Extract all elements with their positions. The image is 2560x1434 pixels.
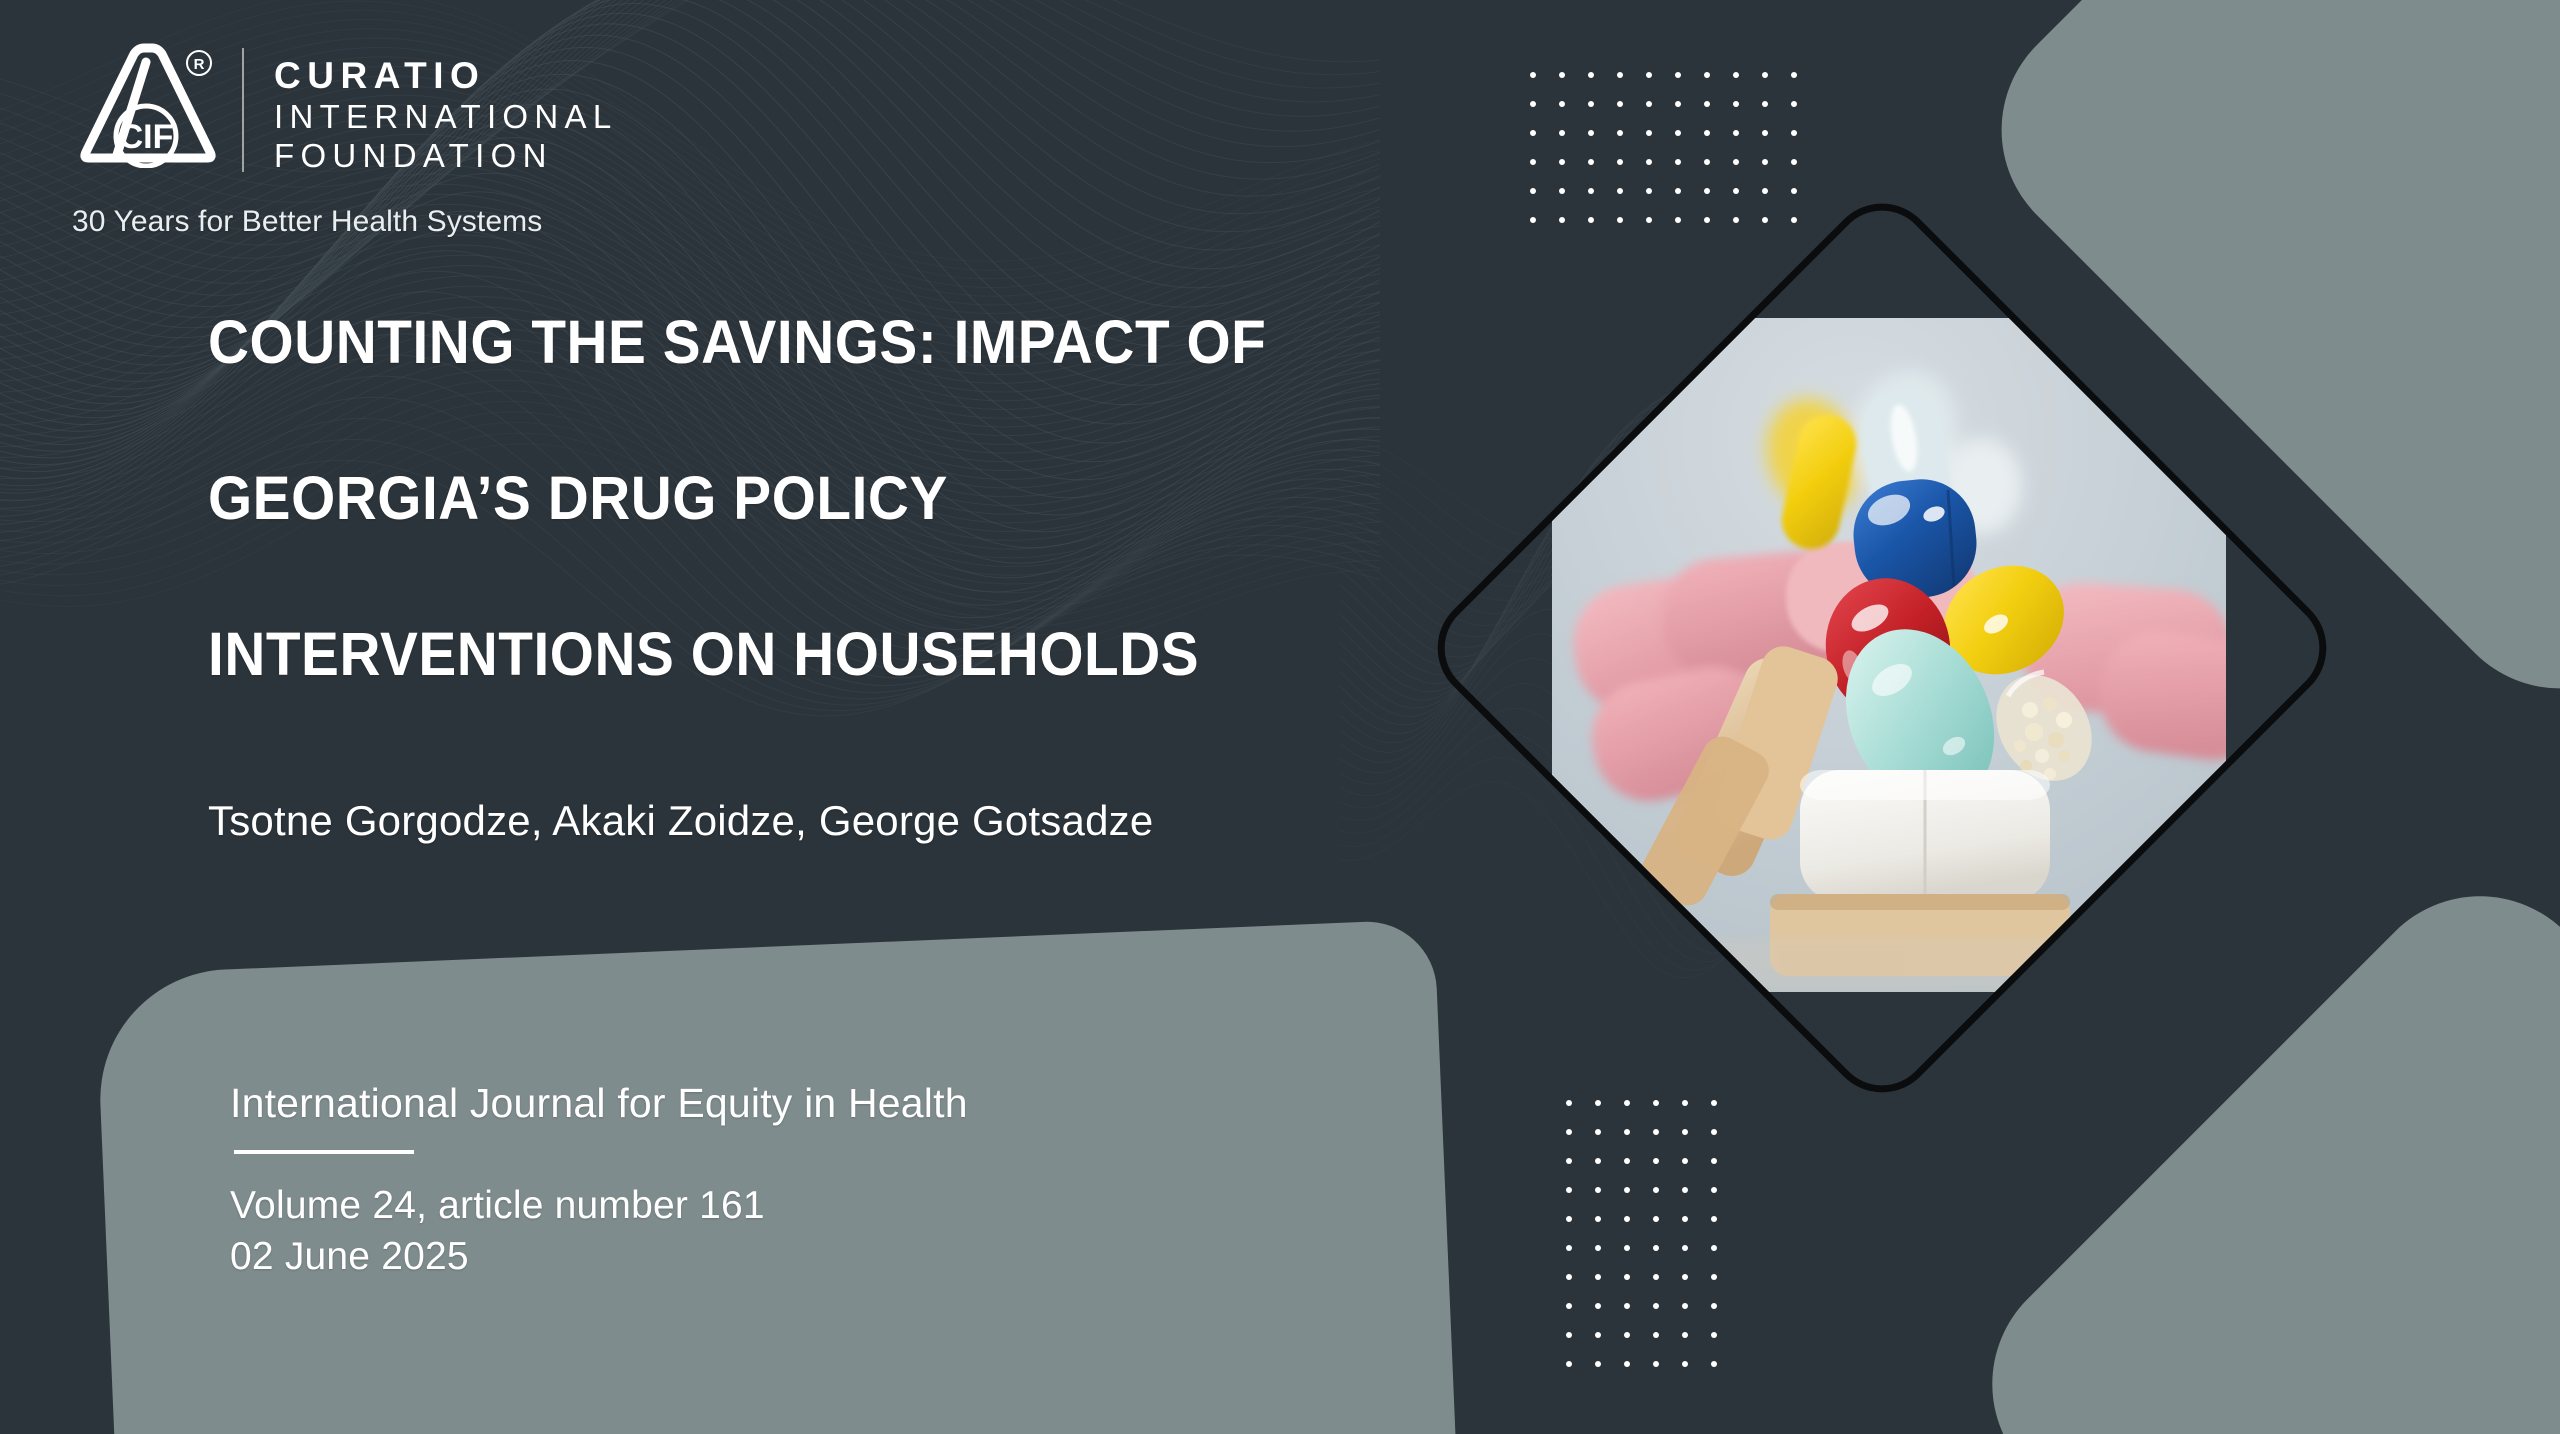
grid-dot bbox=[1762, 217, 1768, 223]
grid-dot bbox=[1682, 1303, 1688, 1309]
grid-dot bbox=[1704, 217, 1710, 223]
grid-dot bbox=[1653, 1332, 1659, 1338]
grid-dot bbox=[1704, 130, 1710, 136]
grid-dot bbox=[1624, 1332, 1630, 1338]
grid-dot bbox=[1675, 159, 1681, 165]
registered-trademark-icon: R bbox=[182, 46, 216, 80]
grid-dot bbox=[1559, 72, 1565, 78]
grid-dot bbox=[1646, 101, 1652, 107]
grid-dot bbox=[1646, 159, 1652, 165]
logo-line-curatio: CURATIO bbox=[274, 54, 617, 98]
grid-dot bbox=[1559, 188, 1565, 194]
grid-dot bbox=[1559, 130, 1565, 136]
grid-dot bbox=[1595, 1303, 1601, 1309]
grid-dot bbox=[1624, 1158, 1630, 1164]
journal-info-text: International Journal for Equity in Heal… bbox=[230, 1080, 1330, 1283]
grid-dot bbox=[1624, 1361, 1630, 1367]
grid-dot bbox=[1566, 1216, 1572, 1222]
grid-dot bbox=[1530, 217, 1536, 223]
grid-dot bbox=[1682, 1245, 1688, 1251]
grid-dot bbox=[1682, 1187, 1688, 1193]
grid-dot bbox=[1682, 1129, 1688, 1135]
grid-dot bbox=[1595, 1332, 1601, 1338]
grid-dot bbox=[1646, 217, 1652, 223]
grid-dot bbox=[1711, 1274, 1717, 1280]
grid-dot bbox=[1566, 1332, 1572, 1338]
grid-dot bbox=[1530, 101, 1536, 107]
grid-dot bbox=[1588, 130, 1594, 136]
grid-dot bbox=[1559, 159, 1565, 165]
grid-dot bbox=[1617, 101, 1623, 107]
svg-text:CIF: CIF bbox=[119, 118, 174, 156]
grid-dot bbox=[1711, 1361, 1717, 1367]
grid-dot bbox=[1682, 1100, 1688, 1106]
grid-dot bbox=[1711, 1129, 1717, 1135]
grid-dot bbox=[1791, 130, 1797, 136]
title-line-1: COUNTING THE SAVINGS: IMPACT OF bbox=[208, 312, 1445, 373]
grid-dot bbox=[1653, 1361, 1659, 1367]
grid-dot bbox=[1682, 1361, 1688, 1367]
grid-dot bbox=[1733, 188, 1739, 194]
grid-dot bbox=[1675, 101, 1681, 107]
grid-dot bbox=[1566, 1361, 1572, 1367]
grid-dot bbox=[1733, 159, 1739, 165]
grid-dot bbox=[1733, 72, 1739, 78]
grid-dot bbox=[1791, 101, 1797, 107]
grid-dot bbox=[1653, 1216, 1659, 1222]
grid-dot bbox=[1624, 1100, 1630, 1106]
grid-dot bbox=[1595, 1100, 1601, 1106]
grid-dot bbox=[1791, 217, 1797, 223]
grid-dot bbox=[1711, 1245, 1717, 1251]
grid-dot bbox=[1733, 217, 1739, 223]
grid-dot bbox=[1595, 1158, 1601, 1164]
grid-dot bbox=[1762, 72, 1768, 78]
grid-dot bbox=[1624, 1245, 1630, 1251]
grid-dot bbox=[1566, 1303, 1572, 1309]
journal-date: 02 June 2025 bbox=[230, 1231, 1330, 1282]
grid-dot bbox=[1653, 1100, 1659, 1106]
grid-dot bbox=[1675, 130, 1681, 136]
grid-dot bbox=[1566, 1100, 1572, 1106]
grid-dot bbox=[1588, 101, 1594, 107]
presentation-slide: CIF R CURATIO INTERNATIONAL FOUNDATION 3… bbox=[0, 0, 2560, 1434]
grid-dot bbox=[1791, 159, 1797, 165]
grid-dot bbox=[1682, 1274, 1688, 1280]
grid-dot bbox=[1675, 188, 1681, 194]
grid-dot bbox=[1530, 72, 1536, 78]
logo-wordmark: CURATIO INTERNATIONAL FOUNDATION bbox=[274, 40, 617, 176]
grid-dot bbox=[1711, 1100, 1717, 1106]
grid-dot bbox=[1595, 1361, 1601, 1367]
grid-dot bbox=[1711, 1303, 1717, 1309]
grid-dot bbox=[1704, 72, 1710, 78]
brand-tagline: 30 Years for Better Health Systems bbox=[72, 205, 542, 239]
grid-dot bbox=[1711, 1332, 1717, 1338]
grid-dot bbox=[1682, 1332, 1688, 1338]
grid-dot bbox=[1595, 1274, 1601, 1280]
grid-dot bbox=[1617, 217, 1623, 223]
journal-volume: Volume 24, article number 161 bbox=[230, 1180, 1330, 1231]
grid-dot bbox=[1588, 188, 1594, 194]
grid-dot bbox=[1588, 217, 1594, 223]
logo-line-international: INTERNATIONAL bbox=[274, 98, 617, 137]
grid-dot bbox=[1624, 1216, 1630, 1222]
page-title: COUNTING THE SAVINGS: IMPACT OF GEORGIA’… bbox=[208, 312, 1538, 685]
grid-dot bbox=[1595, 1245, 1601, 1251]
grid-dot bbox=[1646, 72, 1652, 78]
grid-dot bbox=[1653, 1303, 1659, 1309]
grid-dot bbox=[1559, 217, 1565, 223]
logo-divider bbox=[242, 48, 244, 172]
grid-dot bbox=[1588, 72, 1594, 78]
cif-triangle-logo-icon: CIF R bbox=[72, 40, 224, 168]
grid-dot bbox=[1675, 217, 1681, 223]
grid-dot bbox=[1595, 1216, 1601, 1222]
grid-dot bbox=[1566, 1274, 1572, 1280]
grid-dot bbox=[1559, 101, 1565, 107]
grid-dot bbox=[1624, 1303, 1630, 1309]
grid-dot bbox=[1675, 72, 1681, 78]
title-line-3: INTERVENTIONS ON HOUSEHOLDS bbox=[208, 624, 1445, 685]
grid-dot bbox=[1704, 101, 1710, 107]
journal-name: International Journal for Equity in Heal… bbox=[230, 1080, 1330, 1127]
grid-dot bbox=[1588, 159, 1594, 165]
grid-dot bbox=[1566, 1187, 1572, 1193]
pill-photo-image bbox=[1552, 318, 2212, 978]
grid-dot bbox=[1595, 1129, 1601, 1135]
grid-dot bbox=[1617, 130, 1623, 136]
grid-dot bbox=[1653, 1158, 1659, 1164]
grid-dot bbox=[1762, 159, 1768, 165]
grid-dot bbox=[1617, 188, 1623, 194]
grid-dot bbox=[1595, 1187, 1601, 1193]
grid-dot bbox=[1646, 188, 1652, 194]
title-line-2: GEORGIA’S DRUG POLICY bbox=[208, 468, 1445, 529]
grid-dot bbox=[1762, 101, 1768, 107]
grid-dot bbox=[1624, 1187, 1630, 1193]
grid-dot bbox=[1653, 1129, 1659, 1135]
grid-dot bbox=[1711, 1158, 1717, 1164]
grid-dot bbox=[1791, 188, 1797, 194]
journal-divider-rule bbox=[234, 1150, 414, 1154]
grid-dot bbox=[1762, 188, 1768, 194]
grid-dot bbox=[1530, 130, 1536, 136]
grid-dot bbox=[1682, 1158, 1688, 1164]
grid-dot bbox=[1566, 1245, 1572, 1251]
logo-line-foundation: FOUNDATION bbox=[274, 137, 617, 176]
grid-dot bbox=[1617, 159, 1623, 165]
grid-dot bbox=[1653, 1274, 1659, 1280]
grid-dot bbox=[1646, 130, 1652, 136]
grid-dot bbox=[1617, 72, 1623, 78]
pill-photo-diamond-frame bbox=[1415, 181, 2348, 1114]
grid-dot bbox=[1762, 130, 1768, 136]
brand-logo: CIF R CURATIO INTERNATIONAL FOUNDATION bbox=[72, 40, 617, 176]
grid-dot bbox=[1733, 130, 1739, 136]
grid-dot bbox=[1653, 1245, 1659, 1251]
grid-dot bbox=[1682, 1216, 1688, 1222]
grid-dot bbox=[1704, 188, 1710, 194]
grid-dot bbox=[1711, 1216, 1717, 1222]
grid-dot bbox=[1624, 1274, 1630, 1280]
author-list: Tsotne Gorgodze, Akaki Zoidze, George Go… bbox=[208, 797, 1153, 845]
grid-dot bbox=[1566, 1158, 1572, 1164]
grid-dot bbox=[1530, 188, 1536, 194]
grid-dot bbox=[1530, 159, 1536, 165]
grid-dot bbox=[1791, 72, 1797, 78]
grid-dot bbox=[1653, 1187, 1659, 1193]
grid-dot bbox=[1624, 1129, 1630, 1135]
svg-text:R: R bbox=[194, 56, 205, 73]
grid-dot bbox=[1704, 159, 1710, 165]
grid-dot bbox=[1711, 1187, 1717, 1193]
grid-dot bbox=[1566, 1129, 1572, 1135]
grid-dot bbox=[1733, 101, 1739, 107]
